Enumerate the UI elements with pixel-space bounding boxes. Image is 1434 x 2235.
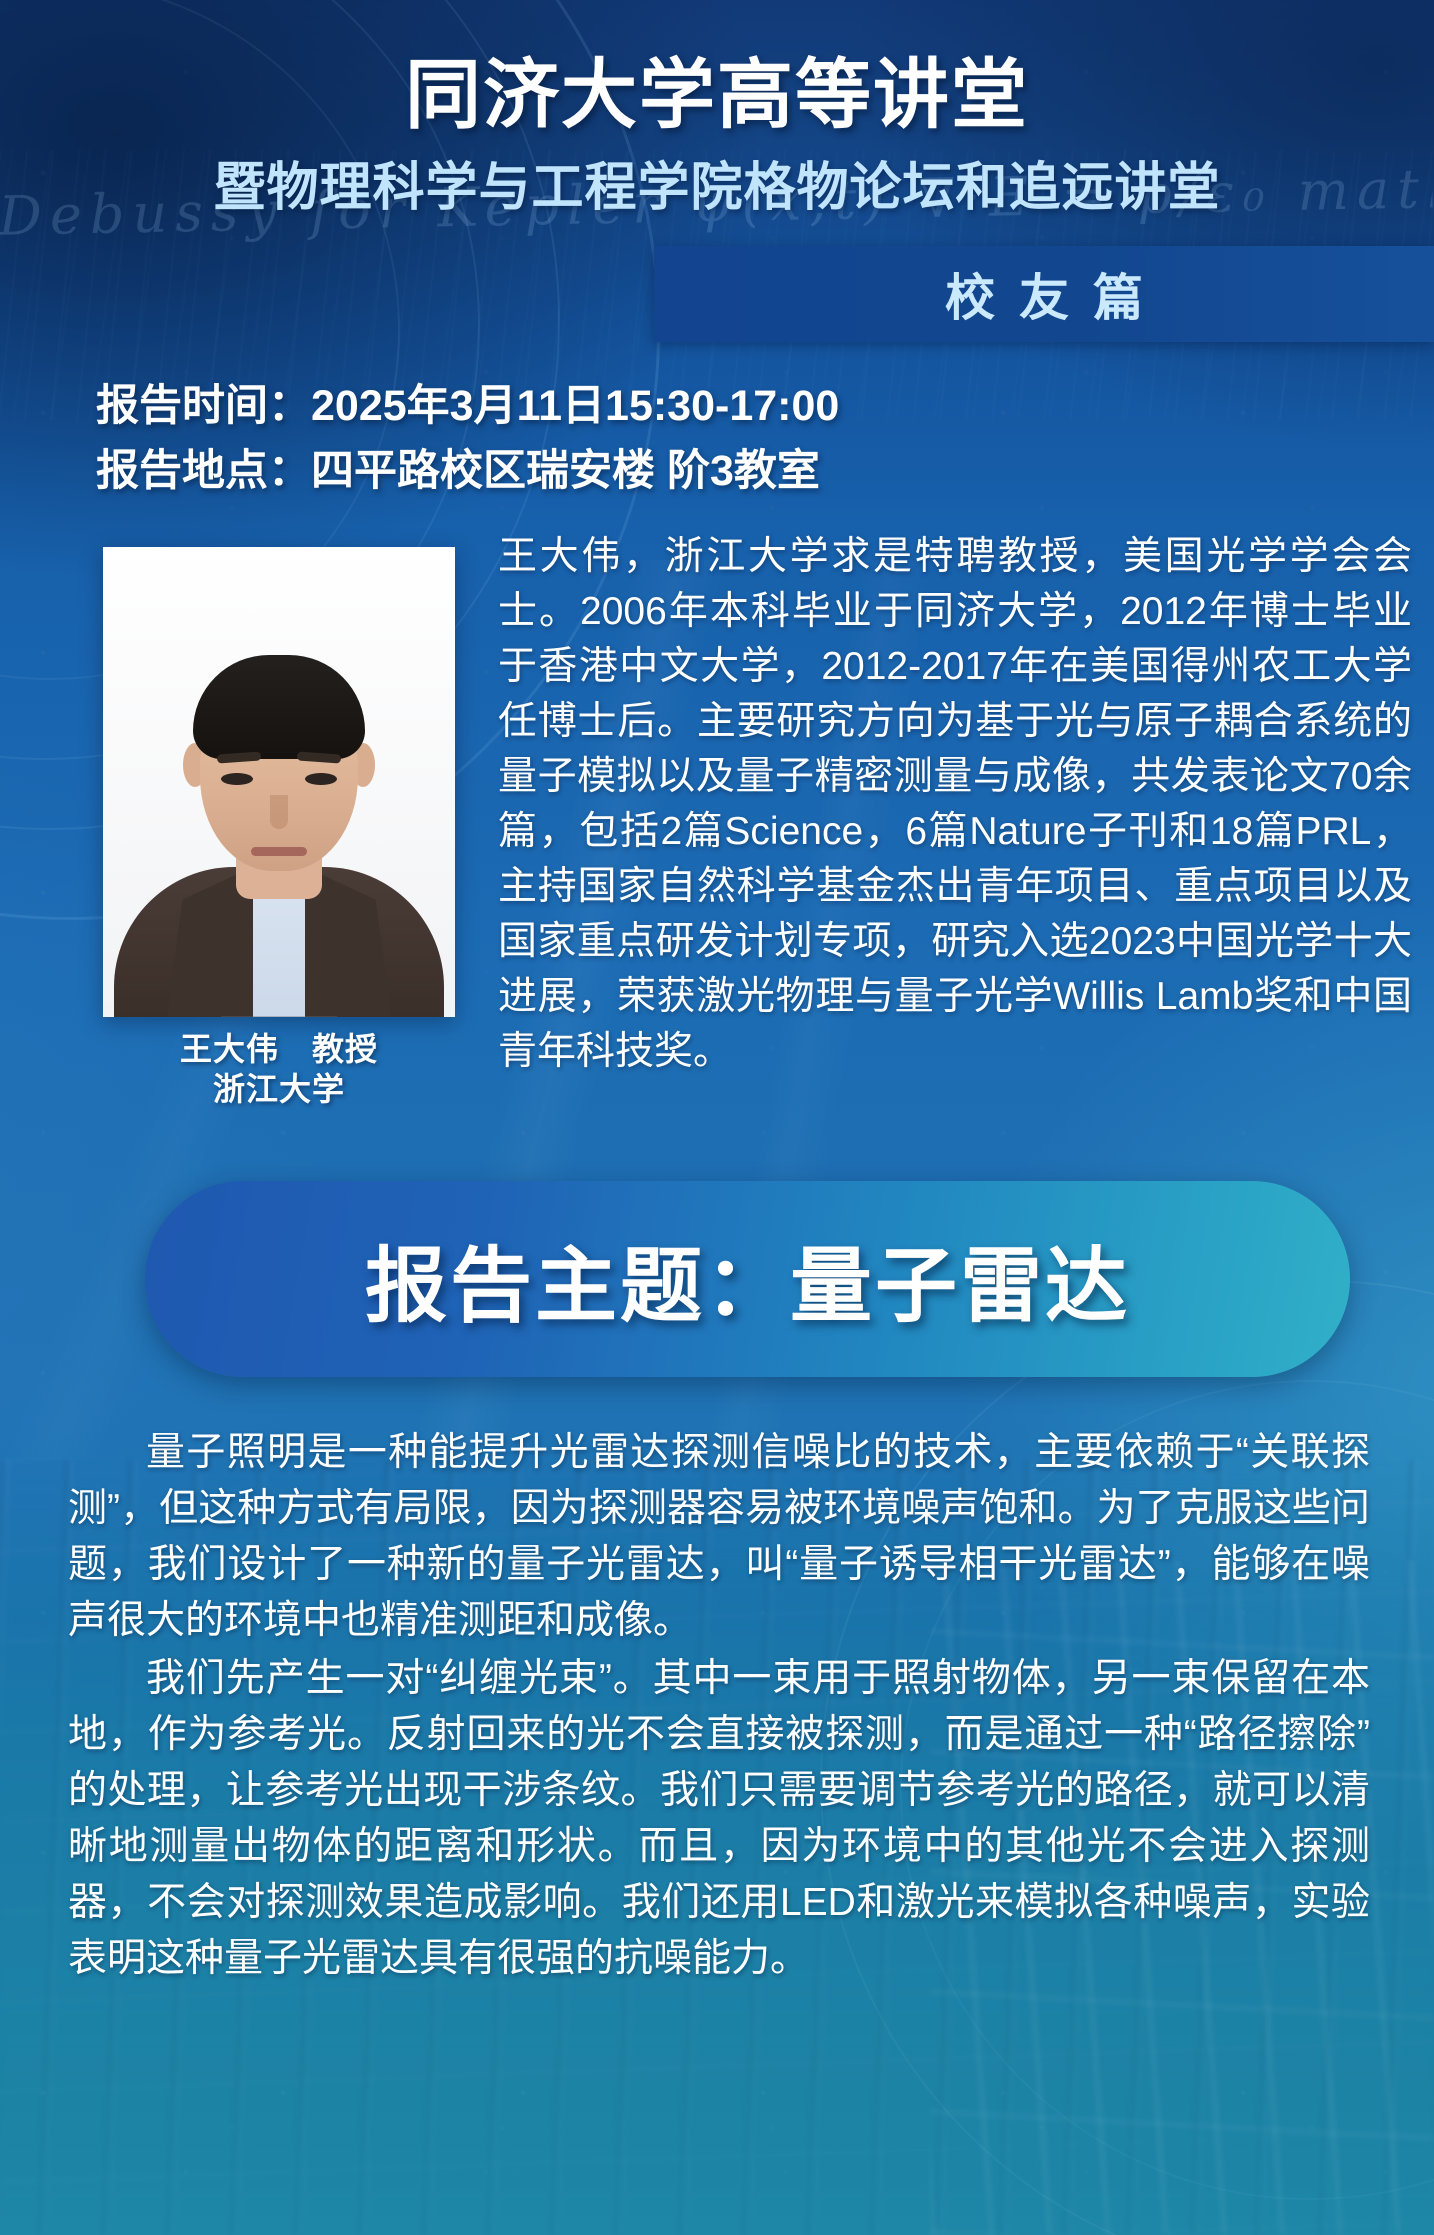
poster-title: 同济大学高等讲堂 xyxy=(0,0,1434,134)
event-info: 报告时间：2025年3月11日15:30-17:00 报告地点：四平路校区瑞安楼… xyxy=(0,374,1434,505)
event-time-line: 报告时间：2025年3月11日15:30-17:00 xyxy=(96,374,1434,439)
portrait-eye-left xyxy=(221,773,253,785)
badge-row: 校友篇 xyxy=(0,246,1434,350)
poster-subtitle: 暨物理科学与工程学院格物论坛和追远讲堂 xyxy=(0,162,1434,214)
portrait-nose xyxy=(270,795,288,829)
series-badge: 校友篇 xyxy=(654,246,1434,342)
speaker-affiliation: 浙江大学 xyxy=(103,1069,455,1109)
poster-content: 同济大学高等讲堂 暨物理科学与工程学院格物论坛和追远讲堂 校友篇 报告时间：20… xyxy=(0,0,1434,1987)
speaker-section: 王大伟 教授 浙江大学 王大伟，浙江大学求是特聘教授，美国光学学会会士。2006… xyxy=(0,529,1434,1049)
series-badge-label: 校友篇 xyxy=(921,258,1167,330)
speaker-photo xyxy=(103,547,455,1017)
speaker-photo-frame xyxy=(103,547,455,1017)
speaker-name: 王大伟 教授 xyxy=(103,1029,455,1069)
event-place-line: 报告地点：四平路校区瑞安楼 阶3教室 xyxy=(96,439,1434,504)
portrait-mouth xyxy=(251,847,307,856)
portrait-eye-right xyxy=(305,773,337,785)
topic-banner-wrap: 报告主题：量子雷达 xyxy=(0,1181,1434,1387)
poster-root: Debussy for Kepler ψ(x,t) ∇·E = ρ/ε₀ mat… xyxy=(0,0,1434,2235)
abstract-section: 量子照明是一种能提升光雷达探测信噪比的技术，主要依赖于“关联探测”，但这种方式有… xyxy=(0,1425,1434,1987)
abstract-paragraph: 量子照明是一种能提升光雷达探测信噪比的技术，主要依赖于“关联探测”，但这种方式有… xyxy=(68,1425,1370,1649)
topic-label: 报告主题：量子雷达 xyxy=(365,1219,1130,1338)
abstract-paragraph: 我们先产生一对“纠缠光束”。其中一束用于照射物体，另一束保留在本地，作为参考光。… xyxy=(68,1651,1370,1987)
topic-banner: 报告主题：量子雷达 xyxy=(145,1181,1350,1377)
speaker-bio: 王大伟，浙江大学求是特聘教授，美国光学学会会士。2006年本科毕业于同济大学，2… xyxy=(498,529,1434,1079)
speaker-caption: 王大伟 教授 浙江大学 xyxy=(103,1029,455,1109)
